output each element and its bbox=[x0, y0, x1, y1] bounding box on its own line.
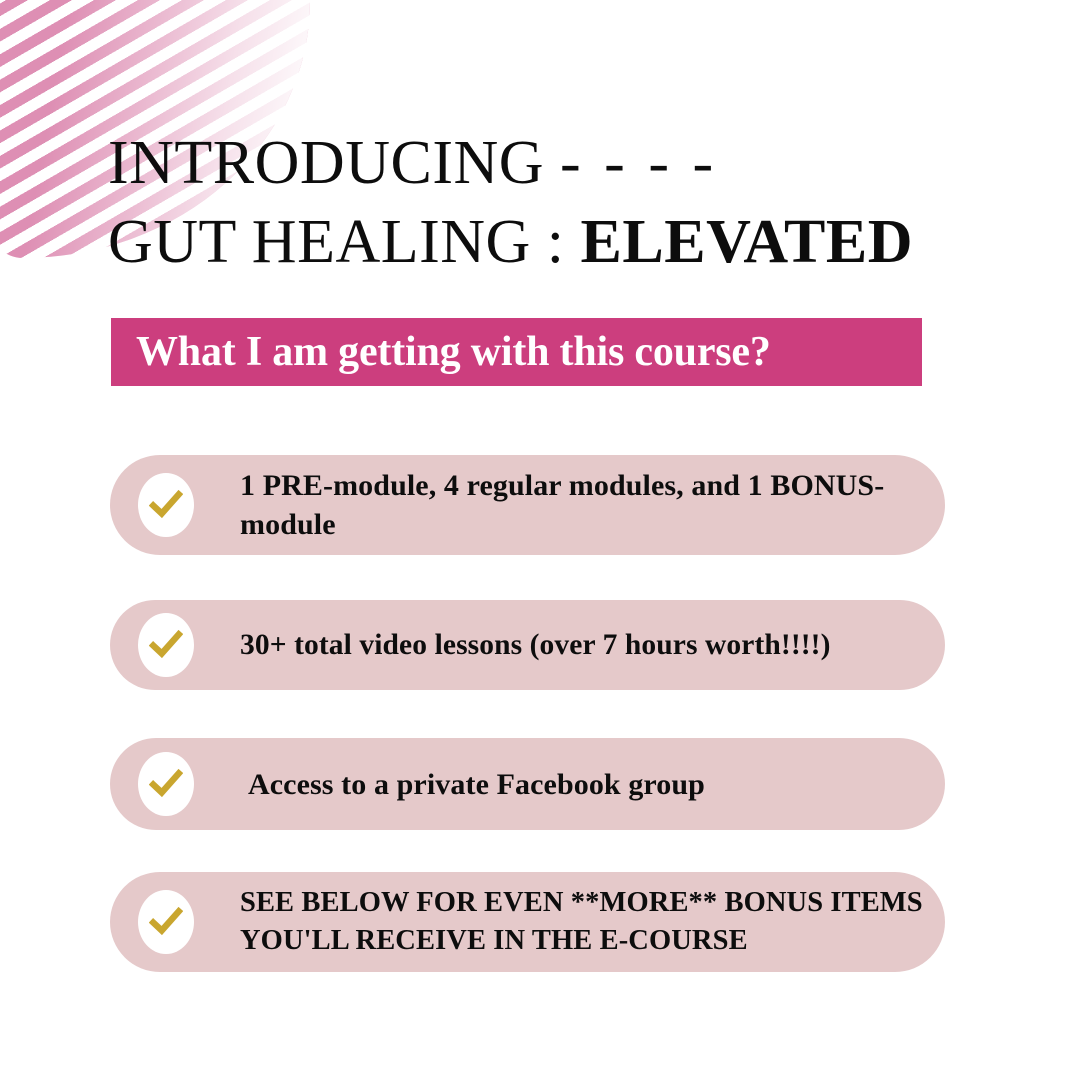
headline-emphasis-elevated: ELEVATED bbox=[581, 208, 914, 276]
check-badge bbox=[138, 613, 194, 677]
benefit-text: SEE BELOW FOR EVEN **MORE** BONUS ITEMS … bbox=[194, 884, 945, 960]
check-icon bbox=[149, 628, 183, 662]
headline-dashes: - - - - bbox=[560, 129, 717, 197]
headline-course-name: GUT HEALING : bbox=[108, 208, 581, 276]
benefit-text: Access to a private Facebook group bbox=[194, 765, 945, 804]
check-icon bbox=[149, 905, 183, 939]
check-badge bbox=[138, 752, 194, 816]
headline-introducing-text: INTRODUCING bbox=[108, 129, 560, 197]
check-badge bbox=[138, 890, 194, 954]
benefit-pill: SEE BELOW FOR EVEN **MORE** BONUS ITEMS … bbox=[110, 872, 945, 972]
check-icon bbox=[149, 767, 183, 801]
benefit-pill: Access to a private Facebook group bbox=[110, 738, 945, 830]
benefit-text: 30+ total video lessons (over 7 hours wo… bbox=[194, 626, 945, 664]
question-banner: What I am getting with this course? bbox=[111, 318, 922, 386]
page-title: INTRODUCING - - - - GUT HEALING : ELEVAT… bbox=[108, 124, 988, 283]
check-icon bbox=[149, 488, 183, 522]
benefit-pill: 30+ total video lessons (over 7 hours wo… bbox=[110, 600, 945, 690]
benefit-text: 1 PRE-module, 4 regular modules, and 1 B… bbox=[194, 466, 945, 544]
headline-line-2: GUT HEALING : ELEVATED bbox=[108, 203, 988, 282]
headline-line-1: INTRODUCING - - - - bbox=[108, 124, 988, 203]
benefit-pill: 1 PRE-module, 4 regular modules, and 1 B… bbox=[110, 455, 945, 555]
check-badge bbox=[138, 473, 194, 537]
promo-poster: INTRODUCING - - - - GUT HEALING : ELEVAT… bbox=[0, 0, 1080, 1080]
question-banner-text: What I am getting with this course? bbox=[111, 331, 771, 373]
